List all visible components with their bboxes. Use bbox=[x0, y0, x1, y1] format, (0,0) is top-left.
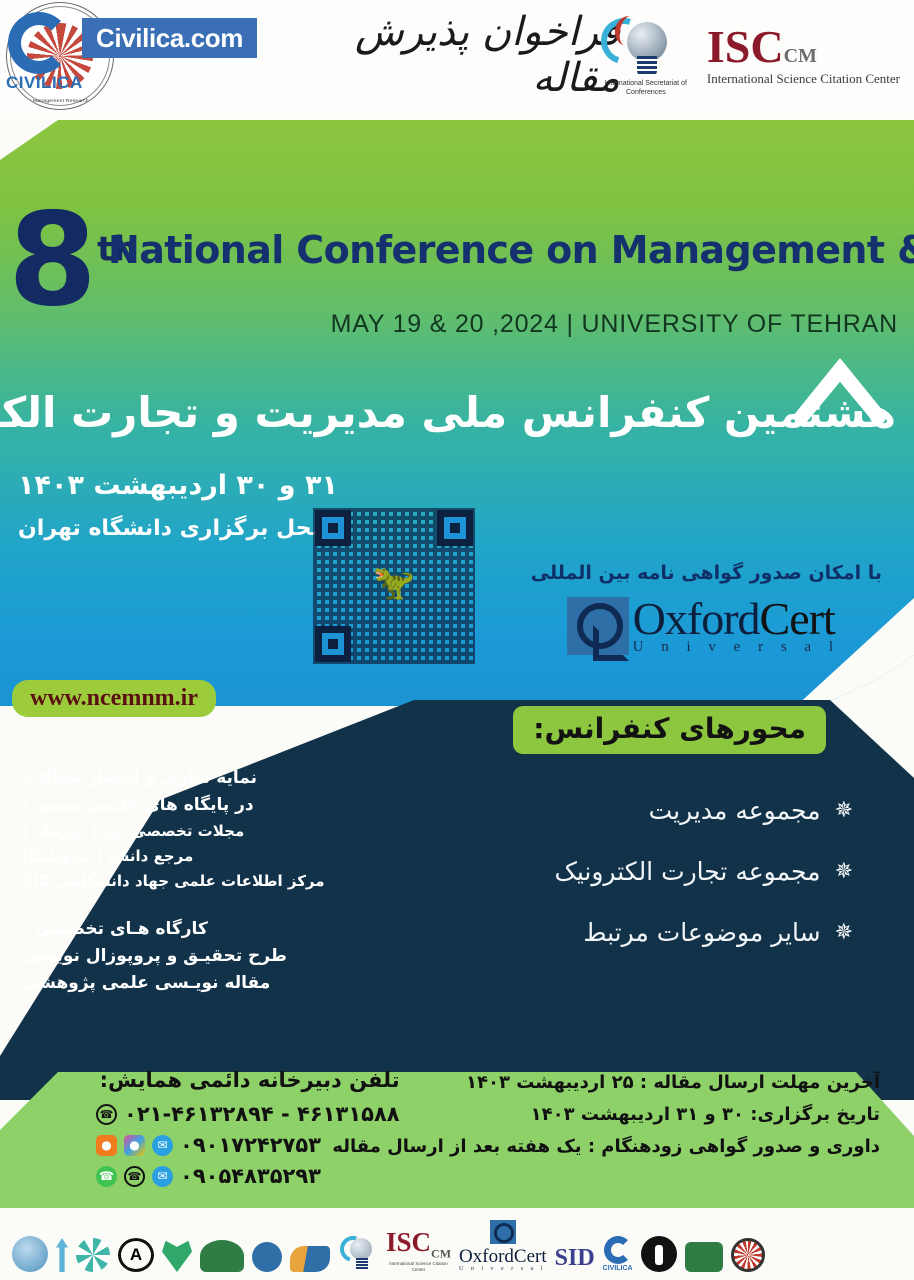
swirl-icon bbox=[731, 1238, 765, 1272]
indexing-line-2: در پایگاه های علـمی معتبر : bbox=[0, 795, 380, 815]
oxfordcert-name-small: OxfordCert bbox=[459, 1247, 547, 1266]
deadline-event-date: تاریخ برگزاری: ۳۰ و ۳۱ اردیبهشت ۱۴۰۳ bbox=[332, 1104, 880, 1125]
isc-bulb-caption: International Secretariat of Conferences bbox=[597, 80, 695, 98]
spacer bbox=[0, 897, 380, 919]
oxfordcert-mark-icon bbox=[490, 1220, 516, 1244]
triangle-a-icon: A bbox=[118, 1238, 154, 1272]
oxfordcert-subtitle: U n i v e r s a l bbox=[633, 640, 840, 655]
oxfordcert-logo: OxfordCert U n i v e r s a l bbox=[567, 596, 840, 655]
civilica-wordmark: CIVILICA bbox=[6, 73, 83, 93]
dinosaur-icon: 🦖 bbox=[373, 566, 415, 600]
whatsapp-icon: ☎ bbox=[96, 1166, 117, 1187]
a-triangle-logo: A bbox=[118, 1216, 154, 1272]
english-conference-title: National Conference on Management & E-Co… bbox=[108, 228, 908, 272]
civilica-c-icon bbox=[8, 12, 70, 74]
qr-finder-top-left-icon bbox=[315, 510, 351, 546]
wave-icon bbox=[290, 1246, 330, 1272]
blue-arrow-logo bbox=[56, 1216, 68, 1272]
sid-wordmark: SID bbox=[555, 1245, 595, 1272]
website-url[interactable]: www.ncemnm.ir bbox=[12, 680, 216, 717]
topics-list: ✵ مجموعه مدیریت ✵ مجموعه تجارت الکترونیک… bbox=[554, 796, 854, 979]
isc-subtitle: International Science Citation Center bbox=[707, 71, 900, 87]
red-swirl-logo bbox=[731, 1216, 765, 1272]
isc-acronym-sub: CM bbox=[784, 45, 817, 67]
isc-acronym: ISCCM bbox=[707, 25, 817, 69]
green-heart-logo bbox=[162, 1216, 192, 1272]
phone-icon: ☎ bbox=[96, 1104, 117, 1125]
topic-label: مجموعه مدیریت bbox=[649, 796, 821, 825]
civilica-wordmark-small: CIVILICA bbox=[603, 1265, 633, 1272]
isc-bulb-icon bbox=[338, 1232, 378, 1272]
green-shield-logo bbox=[685, 1216, 723, 1272]
isc-caption-small: International Science Citation Center bbox=[389, 1261, 449, 1272]
bullet-star-icon: ✵ bbox=[835, 859, 854, 884]
phone-icon: ☎ bbox=[124, 1166, 145, 1187]
bullet-star-icon: ✵ bbox=[835, 920, 854, 945]
isc-cm-logo: ISCCM International Science Citation Cen… bbox=[386, 1216, 451, 1272]
persian-conference-title: هشتمین کنفرانس ملی مدیریت و تجارت الکترو… bbox=[0, 388, 896, 437]
deadline-review: داوری و صدور گواهی زودهنگام : یک هفته بع… bbox=[332, 1136, 880, 1157]
english-date-venue: MAY 19 & 20 ,2024 | UNIVERSITY OF TEHRAN bbox=[331, 310, 898, 339]
telegram-icon: ✉ bbox=[152, 1166, 173, 1187]
list-item: ✵ مجموعه تجارت الکترونیک bbox=[554, 857, 854, 886]
civilica-url-banner[interactable]: Civilica.com bbox=[82, 18, 257, 58]
civilica-c-icon bbox=[604, 1236, 632, 1264]
globe-icon bbox=[12, 1236, 48, 1272]
indexing-line-3: مجلات تخصصی نور ( نورمگز ) bbox=[0, 822, 380, 840]
oxfordcert-logo-small: OxfordCert U n i v e r s a l bbox=[459, 1216, 547, 1272]
isc-acronym-small: ISCCM bbox=[386, 1229, 451, 1259]
sponsor-logo-strip: A ISCCM International Science Citation C… bbox=[0, 1208, 914, 1280]
blue-circle-logo bbox=[252, 1216, 282, 1272]
oxfordcert-name: OxfordCert bbox=[633, 596, 840, 642]
indexing-line-4: مرجع دانش ( سیویلیکا) bbox=[0, 847, 380, 865]
isc-bulb-base-icon bbox=[637, 56, 657, 76]
civilica-url-text: Civilica.com bbox=[96, 23, 243, 54]
bullet-star-icon: ✵ bbox=[835, 798, 854, 823]
deadlines-block: آخرین مهلت ارسال مقاله : ۲۵ اردیبهشت ۱۴۰… bbox=[332, 1072, 880, 1168]
orange-wave-logo bbox=[290, 1216, 330, 1272]
indexing-line-5: مرکز اطلاعات علمی جهاد دانشگاهی SID bbox=[0, 872, 380, 890]
oxfordcert-subtitle-small: U n i v e r s a l bbox=[459, 1266, 547, 1272]
flower-icon bbox=[76, 1238, 110, 1272]
contact-number: ۰۹۰۱۷۲۴۲۷۵۳ bbox=[180, 1133, 321, 1157]
persian-date: ۳۱ و ۳۰ اردیبهشت ۱۴۰۳ bbox=[18, 470, 338, 501]
black-circle-logo bbox=[641, 1216, 677, 1272]
un-globe-logo bbox=[12, 1216, 48, 1272]
workshops-heading: کارگاه هـای تخصصی : bbox=[0, 919, 380, 939]
qr-finder-top-right-icon bbox=[437, 510, 473, 546]
poster-header: Modadar Management Research Institute CI… bbox=[0, 0, 914, 118]
heart-icon bbox=[162, 1238, 192, 1272]
sid-logo: SID bbox=[555, 1216, 595, 1272]
shield-icon bbox=[685, 1242, 723, 1272]
indexing-line-1: نمایه سازی و انتشار مقالات bbox=[0, 768, 380, 788]
isc-secretariat-logo bbox=[338, 1216, 378, 1272]
isc-lightbulb-icon: International Secretariat of Conferences bbox=[597, 10, 695, 102]
workshop-item: طرح تحقیـق و پروپوزال نویسی bbox=[0, 946, 380, 966]
soroush-icon: ● bbox=[124, 1135, 145, 1156]
list-item: ✵ مجموعه مدیریت bbox=[554, 796, 854, 825]
black-circle-icon bbox=[641, 1236, 677, 1272]
oxfordcert-name-part2: Cert bbox=[760, 593, 835, 644]
oxfordcert-mark-icon bbox=[567, 597, 629, 655]
workshop-item: مقاله نویـسی علمی پژوهشی bbox=[0, 973, 380, 993]
qr-code[interactable]: 🦖 bbox=[313, 508, 475, 664]
contact-number: ۰۹۰۵۴۸۳۵۲۹۳ bbox=[180, 1164, 321, 1188]
telegram-icon: ✉ bbox=[152, 1135, 173, 1156]
call-for-papers-title: فراخوان پذیرش مقاله bbox=[290, 12, 620, 98]
oxfordcert-text: OxfordCert U n i v e r s a l bbox=[633, 596, 840, 655]
isc-logo-block: International Secretariat of Conferences… bbox=[597, 8, 900, 104]
qr-finder-bottom-left-icon bbox=[315, 626, 351, 662]
topics-heading-badge: محورهای کنفرانس: bbox=[513, 706, 826, 754]
indexing-and-workshops-column: نمایه سازی و انتشار مقالات در پایگاه های… bbox=[0, 768, 400, 1000]
international-certificate-note: با امکان صدور گواهی نامه بین المللی bbox=[531, 562, 882, 584]
eitaa-icon: ● bbox=[96, 1135, 117, 1156]
stamp-caption: Modadar Management Research Institute bbox=[7, 98, 113, 103]
flower-institute-logo bbox=[76, 1216, 110, 1272]
conference-poster: Modadar Management Research Institute CI… bbox=[0, 0, 914, 1280]
circle-icon bbox=[252, 1242, 282, 1272]
persian-venue: محل برگزاری دانشگاه تهران bbox=[18, 516, 325, 541]
arrow-up-icon bbox=[56, 1238, 68, 1272]
isc-text-block: ISCCM International Science Citation Cen… bbox=[707, 25, 900, 88]
book-globe-icon bbox=[200, 1240, 244, 1272]
list-item: ✵ سایر موضوعات مرتبط bbox=[554, 918, 854, 947]
civilica-logo-small: CIVILICA bbox=[603, 1216, 633, 1272]
deadline-submission: آخرین مهلت ارسال مقاله : ۲۵ اردیبهشت ۱۴۰… bbox=[332, 1072, 880, 1093]
topic-label: سایر موضوعات مرتبط bbox=[583, 918, 820, 947]
topic-label: مجموعه تجارت الکترونیک bbox=[554, 857, 820, 886]
green-globe-book-logo bbox=[200, 1216, 244, 1272]
